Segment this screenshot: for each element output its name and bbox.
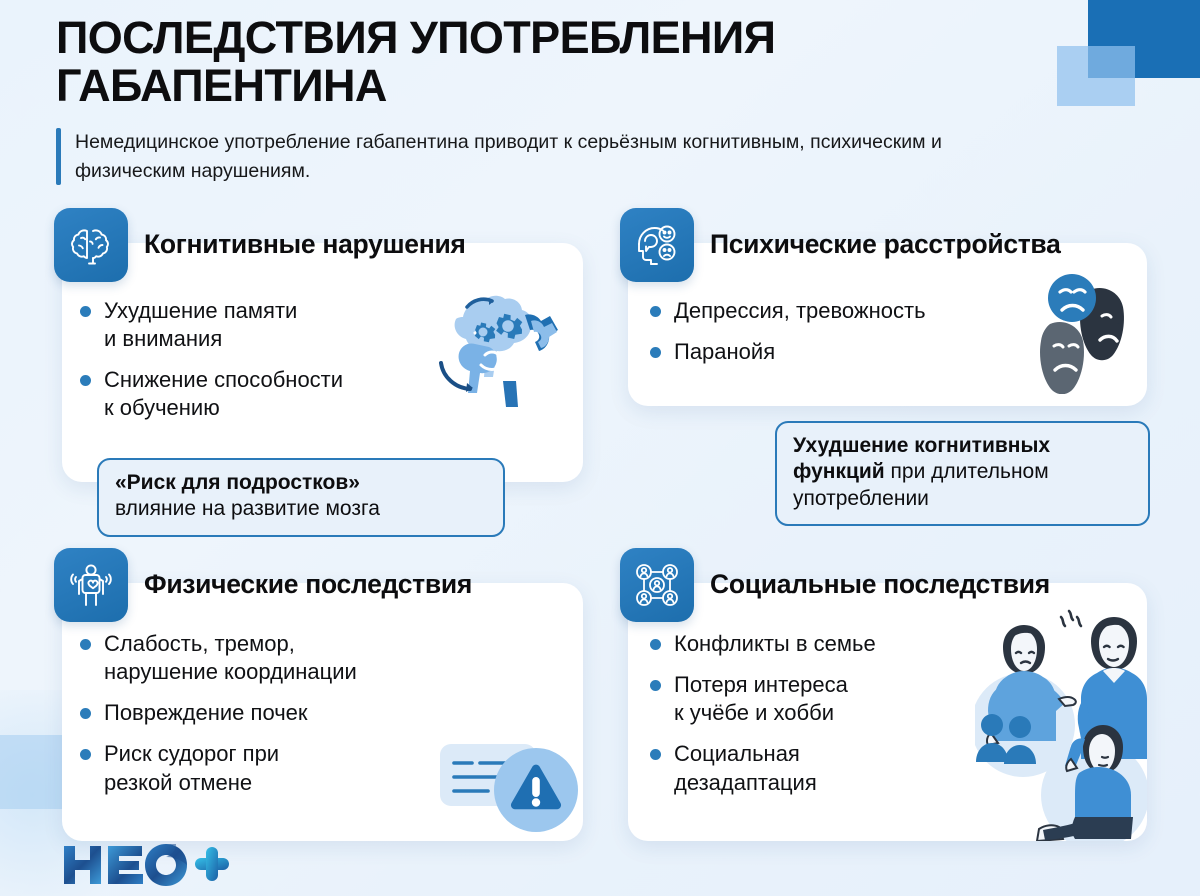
header: ПОСЛЕДСТВИЯ УПОТРЕБЛЕНИЯ ГАБАПЕНТИНА Нем… — [0, 0, 1200, 185]
card-title-physical: Физические последствия — [144, 569, 472, 600]
bullet-list-physical: Слабость, тремор, нарушение координации … — [80, 630, 480, 810]
bullet-text: Слабость, тремор, нарушение координации — [104, 630, 357, 686]
callout-risk-for-teenagers: «Риск для подростков» влияние на развити… — [97, 458, 505, 537]
card-title-social: Социальные последствия — [710, 569, 1050, 600]
list-item: Потеря интереса к учёбе и хобби — [650, 671, 980, 727]
callout-teens-rest: влияние на развитие мозга — [115, 497, 380, 520]
card-title-cognitive: Когнитивные нарушения — [144, 229, 466, 260]
bullet-dot-icon — [80, 306, 91, 317]
bullet-dot-icon — [650, 749, 661, 760]
bullet-list-social: Конфликты в семье Потеря интереса к учёб… — [650, 630, 980, 810]
callout-long-term-cognitive-decline: Ухудшение когнитивных функций при длител… — [775, 421, 1150, 526]
list-item: Социальная дезадаптация — [650, 740, 980, 796]
bullet-dot-icon — [80, 639, 91, 650]
family-conflict-illustration — [975, 605, 1147, 841]
bullet-dot-icon — [80, 708, 91, 719]
bullet-dot-icon — [650, 347, 661, 358]
bullet-text: Социальная дезадаптация — [674, 740, 817, 796]
bullet-dot-icon — [80, 375, 91, 386]
bullet-text: Ухудшение памяти и внимания — [104, 297, 297, 353]
page-title: ПОСЛЕДСТВИЯ УПОТРЕБЛЕНИЯ ГАБАПЕНТИНА — [56, 14, 1016, 110]
head-emotions-icon — [620, 208, 694, 282]
list-item: Риск судорог при резкой отмене — [80, 740, 480, 796]
bullet-text: Депрессия, тревожность — [674, 297, 926, 325]
list-item: Ухудшение памяти и внимания — [80, 297, 450, 353]
bullet-dot-icon — [650, 639, 661, 650]
human-body-icon — [54, 548, 128, 622]
brand-logo-neo-plus — [62, 842, 232, 893]
bullet-text: Риск судорог при резкой отмене — [104, 740, 279, 796]
list-item: Паранойя — [650, 338, 1050, 366]
bullet-text: Снижение способности к обучению — [104, 366, 343, 422]
bullet-text: Конфликты в семье — [674, 630, 876, 658]
subtitle-block: Немедицинское употребление габапентина п… — [56, 128, 1056, 185]
bullet-text: Паранойя — [674, 338, 775, 366]
bullet-list-mental: Депрессия, тревожность Паранойя — [650, 297, 1050, 379]
bullet-text: Повреждение почек — [104, 699, 308, 727]
brain-icon — [54, 208, 128, 282]
people-network-icon — [620, 548, 694, 622]
bullet-dot-icon — [650, 306, 661, 317]
theatre-masks-illustration — [1020, 272, 1148, 394]
page-subtitle: Немедицинское употребление габапентина п… — [75, 128, 1056, 185]
warning-document-illustration — [440, 735, 583, 833]
brain-gears-illustration — [425, 277, 583, 420]
card-title-mental: Психические расстройства — [710, 229, 1061, 260]
callout-teens-bold: «Риск для подростков» — [115, 471, 360, 494]
subtitle-accent-bar — [56, 128, 61, 185]
bullet-dot-icon — [650, 680, 661, 691]
list-item: Конфликты в семье — [650, 630, 980, 658]
bullet-list-cognitive: Ухудшение памяти и внимания Снижение спо… — [80, 297, 450, 436]
list-item: Повреждение почек — [80, 699, 480, 727]
bullet-text: Потеря интереса к учёбе и хобби — [674, 671, 848, 727]
bullet-dot-icon — [80, 749, 91, 760]
list-item: Депрессия, тревожность — [650, 297, 1050, 325]
list-item: Слабость, тремор, нарушение координации — [80, 630, 480, 686]
list-item: Снижение способности к обучению — [80, 366, 450, 422]
